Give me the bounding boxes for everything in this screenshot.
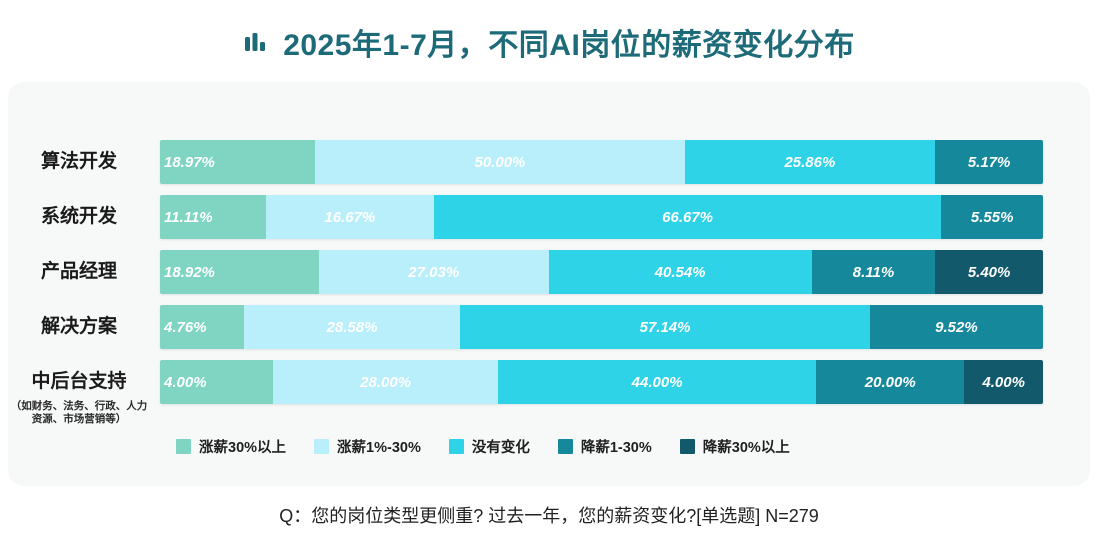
bar-segment[interactable]: 50.00% — [315, 140, 684, 184]
legend-swatch-icon — [176, 439, 191, 454]
bar-segment[interactable]: 18.92% — [160, 250, 319, 294]
bar-segment[interactable]: 4.00% — [160, 360, 273, 404]
bar-segment[interactable]: 11.11% — [160, 195, 266, 239]
bar-segment[interactable]: 4.00% — [964, 360, 1043, 404]
chart-caption: Q：您的岗位类型更侧重? 过去一年，您的薪资变化?[单选题] N=279 — [0, 502, 1098, 528]
legend-item-4[interactable]: 降薪30%以上 — [680, 436, 790, 457]
category-label-main: 系统开发 — [8, 195, 150, 239]
legend-label: 涨薪30%以上 — [199, 436, 286, 457]
table-row: 算法开发 18.97% 50.00% 25.86% 5.17% — [8, 140, 1090, 195]
chart-panel: 算法开发 18.97% 50.00% 25.86% 5.17% 系统开发 11.… — [8, 82, 1090, 486]
legend-item-3[interactable]: 降薪1-30% — [558, 436, 652, 457]
bar-segment[interactable]: 27.03% — [319, 250, 549, 294]
table-row: 产品经理 18.92% 27.03% 40.54% 8.11% 5.40% — [8, 250, 1090, 305]
page-title: 2025年1-7月，不同AI岗位的薪资变化分布 — [283, 20, 855, 64]
category-label-main: 产品经理 — [8, 250, 150, 294]
bar-segment[interactable]: 66.67% — [434, 195, 942, 239]
category-label-2: 产品经理 — [8, 250, 160, 294]
legend-swatch-icon — [680, 439, 695, 454]
category-label-4: 中后台支持 （如财务、法务、行政、人力资源、市场营销等） — [8, 360, 160, 426]
bar-segment[interactable]: 4.76% — [160, 305, 244, 349]
stacked-bar-4: 4.00% 28.00% 44.00% 20.00% 4.00% — [160, 360, 1043, 404]
stacked-bar-3: 4.76% 28.58% 57.14% 9.52% — [160, 305, 1043, 349]
bar-segment[interactable]: 16.67% — [266, 195, 434, 239]
bar-segment[interactable]: 20.00% — [816, 360, 964, 404]
bar-segment[interactable]: 5.17% — [935, 140, 1043, 184]
chart-title-row: 2025年1-7月，不同AI岗位的薪资变化分布 — [0, 14, 1098, 70]
legend-item-1[interactable]: 涨薪1%-30% — [314, 436, 421, 457]
category-label-3: 解决方案 — [8, 305, 160, 349]
bar-segment[interactable]: 28.58% — [244, 305, 460, 349]
table-row: 解决方案 4.76% 28.58% 57.14% 9.52% — [8, 305, 1090, 360]
bar-segment[interactable]: 40.54% — [549, 250, 812, 294]
bar-segment[interactable]: 25.86% — [685, 140, 936, 184]
legend-label: 没有变化 — [472, 436, 530, 457]
legend-label: 降薪30%以上 — [703, 436, 790, 457]
bar-segment[interactable]: 44.00% — [498, 360, 816, 404]
stacked-bar-1: 11.11% 16.67% 66.67% 5.55% — [160, 195, 1043, 239]
legend-swatch-icon — [558, 439, 573, 454]
category-label-main: 算法开发 — [8, 140, 150, 184]
legend-label: 涨薪1%-30% — [337, 436, 421, 457]
legend-swatch-icon — [449, 439, 464, 454]
category-label-1: 系统开发 — [8, 195, 160, 239]
bar-segment[interactable]: 28.00% — [273, 360, 498, 404]
bar-chart-icon — [243, 31, 269, 57]
category-label-main: 解决方案 — [8, 305, 150, 349]
bar-segment[interactable]: 5.55% — [941, 195, 1043, 239]
table-row: 中后台支持 （如财务、法务、行政、人力资源、市场营销等） 4.00% 28.00… — [8, 360, 1090, 415]
bar-rows: 算法开发 18.97% 50.00% 25.86% 5.17% 系统开发 11.… — [8, 140, 1090, 415]
legend-swatch-icon — [314, 439, 329, 454]
bar-segment[interactable]: 57.14% — [460, 305, 870, 349]
chart-page: 2025年1-7月，不同AI岗位的薪资变化分布 算法开发 18.97% 50.0… — [0, 0, 1098, 552]
legend-label: 降薪1-30% — [581, 436, 652, 457]
stacked-bar-2: 18.92% 27.03% 40.54% 8.11% 5.40% — [160, 250, 1043, 294]
category-label-sub: （如财务、法务、行政、人力资源、市场营销等） — [8, 400, 150, 426]
legend-item-2[interactable]: 没有变化 — [449, 436, 530, 457]
bar-segment[interactable]: 5.40% — [935, 250, 1043, 294]
bar-segment[interactable]: 9.52% — [870, 305, 1043, 349]
chart-legend: 涨薪30%以上 涨薪1%-30% 没有变化 降薪1-30% 降薪30%以上 — [176, 436, 876, 457]
stacked-bar-0: 18.97% 50.00% 25.86% 5.17% — [160, 140, 1043, 184]
category-label-0: 算法开发 — [8, 140, 160, 184]
bar-segment[interactable]: 18.97% — [160, 140, 315, 184]
legend-item-0[interactable]: 涨薪30%以上 — [176, 436, 286, 457]
category-label-main: 中后台支持 — [8, 360, 150, 404]
bar-segment[interactable]: 8.11% — [812, 250, 936, 294]
table-row: 系统开发 11.11% 16.67% 66.67% 5.55% — [8, 195, 1090, 250]
